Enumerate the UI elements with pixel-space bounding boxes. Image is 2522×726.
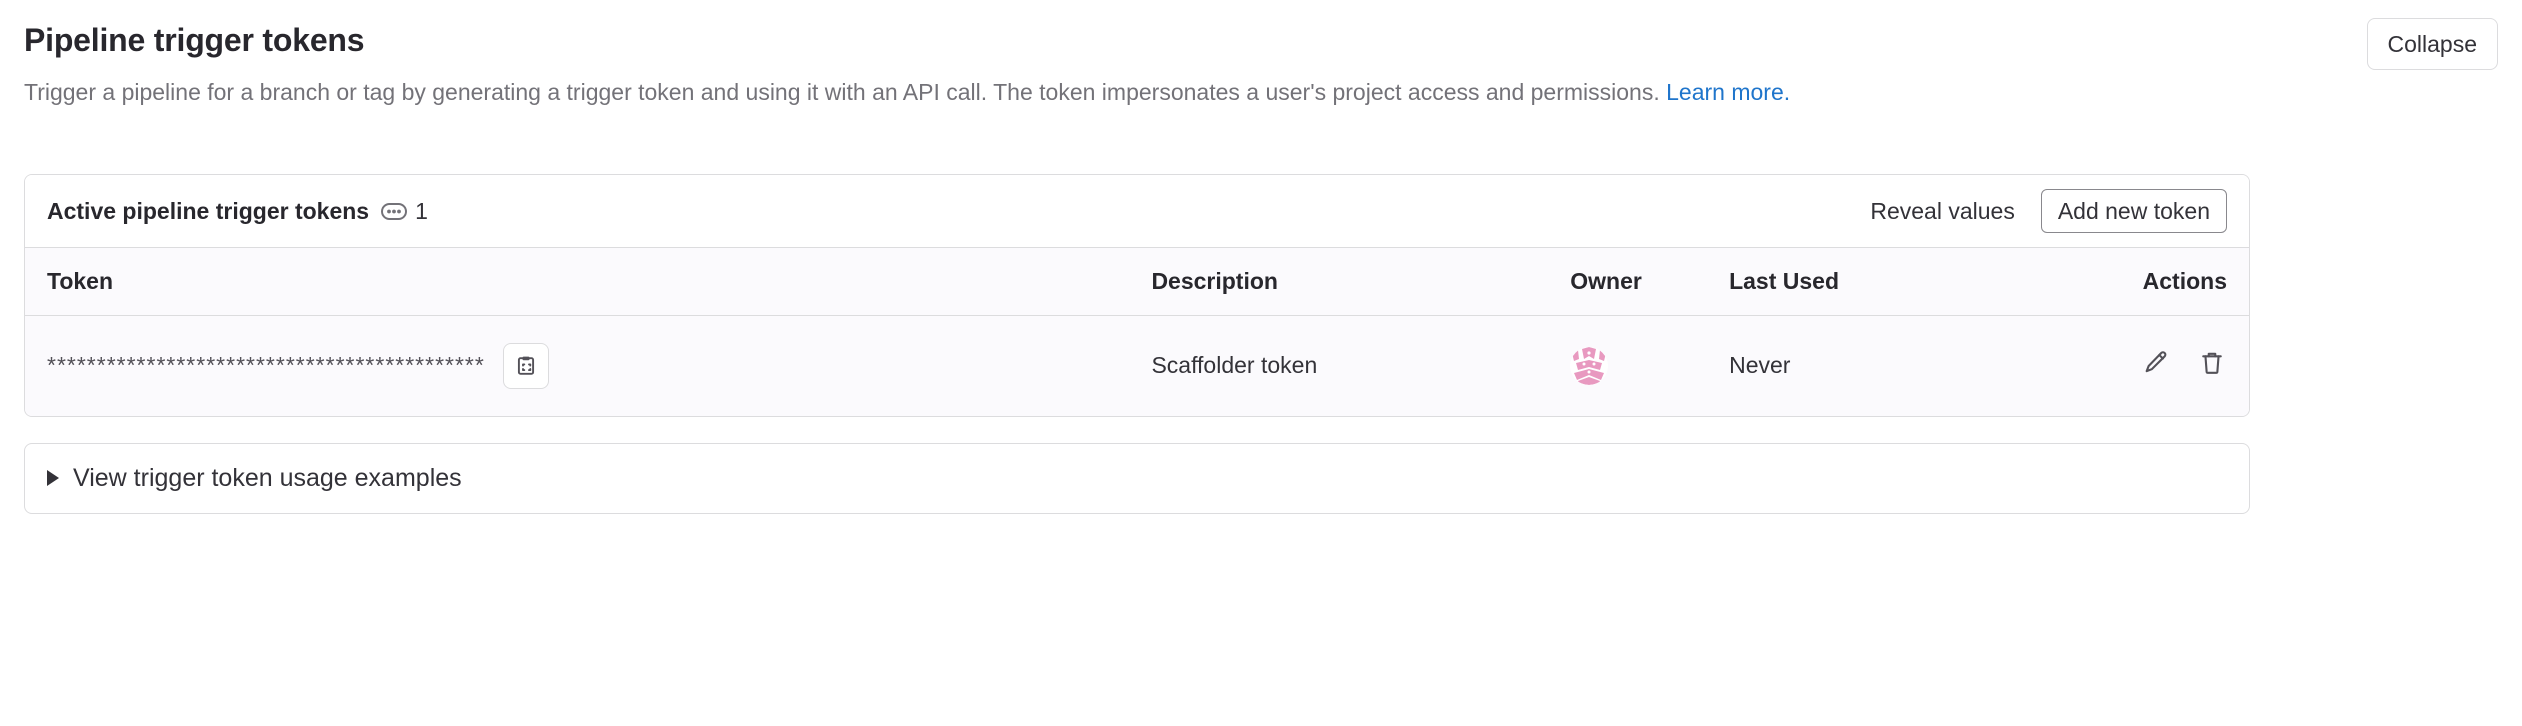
- column-header-actions: Actions: [2018, 248, 2249, 316]
- row-action-buttons: [2141, 348, 2227, 378]
- card-title: Active pipeline trigger tokens: [47, 200, 369, 223]
- usage-examples-disclosure[interactable]: View trigger token usage examples: [24, 443, 2250, 514]
- card-header-left: Active pipeline trigger tokens 1: [47, 200, 428, 223]
- column-header-token: Token: [25, 248, 1151, 316]
- cell-description: Scaffolder token: [1151, 316, 1570, 416]
- clipboard-copy-icon[interactable]: [503, 343, 549, 389]
- cell-last-used: Never: [1729, 316, 2018, 416]
- page-description: Trigger a pipeline for a branch or tag b…: [24, 72, 2264, 112]
- page-description-text: Trigger a pipeline for a branch or tag b…: [24, 79, 1666, 105]
- tokens-table-head: Token Description Owner Last Used Action…: [25, 248, 2249, 316]
- page-title: Pipeline trigger tokens: [24, 20, 2498, 60]
- card-header-actions: Reveal values Add new token: [1870, 189, 2227, 233]
- pipeline-trigger-tokens-page: Pipeline trigger tokens Trigger a pipeli…: [0, 0, 2522, 726]
- active-tokens-card: Active pipeline trigger tokens 1 Reveal …: [24, 174, 2250, 417]
- add-new-token-button[interactable]: Add new token: [2041, 189, 2227, 233]
- pencil-icon[interactable]: [2141, 348, 2171, 378]
- card-header: Active pipeline trigger tokens 1 Reveal …: [25, 175, 2249, 247]
- reveal-values-button[interactable]: Reveal values: [1870, 200, 2014, 223]
- section-header: Pipeline trigger tokens Trigger a pipeli…: [24, 0, 2498, 112]
- trash-icon[interactable]: [2197, 348, 2227, 378]
- learn-more-link[interactable]: Learn more.: [1666, 79, 1790, 105]
- cell-actions: [2018, 316, 2249, 416]
- column-header-description: Description: [1151, 248, 1570, 316]
- cell-owner: [1570, 316, 1729, 416]
- token-count-badge: 1: [381, 200, 428, 223]
- token-cell-inner: ****************************************…: [47, 343, 1151, 389]
- usage-examples-label: View trigger token usage examples: [73, 466, 462, 491]
- token-pill-icon: [381, 203, 407, 220]
- token-count-value: 1: [415, 200, 428, 223]
- tokens-table-header-row: Token Description Owner Last Used Action…: [25, 248, 2249, 316]
- cell-token: ****************************************…: [25, 316, 1151, 416]
- masked-token-value: ****************************************…: [47, 352, 485, 379]
- collapse-button[interactable]: Collapse: [2367, 18, 2499, 70]
- column-header-owner: Owner: [1570, 248, 1729, 316]
- table-row: ****************************************…: [25, 316, 2249, 416]
- tokens-table-body: ****************************************…: [25, 316, 2249, 416]
- tokens-table: Token Description Owner Last Used Action…: [25, 247, 2249, 416]
- column-header-last-used: Last Used: [1729, 248, 2018, 316]
- avatar[interactable]: [1570, 347, 1608, 385]
- disclosure-triangle-icon: [47, 470, 59, 486]
